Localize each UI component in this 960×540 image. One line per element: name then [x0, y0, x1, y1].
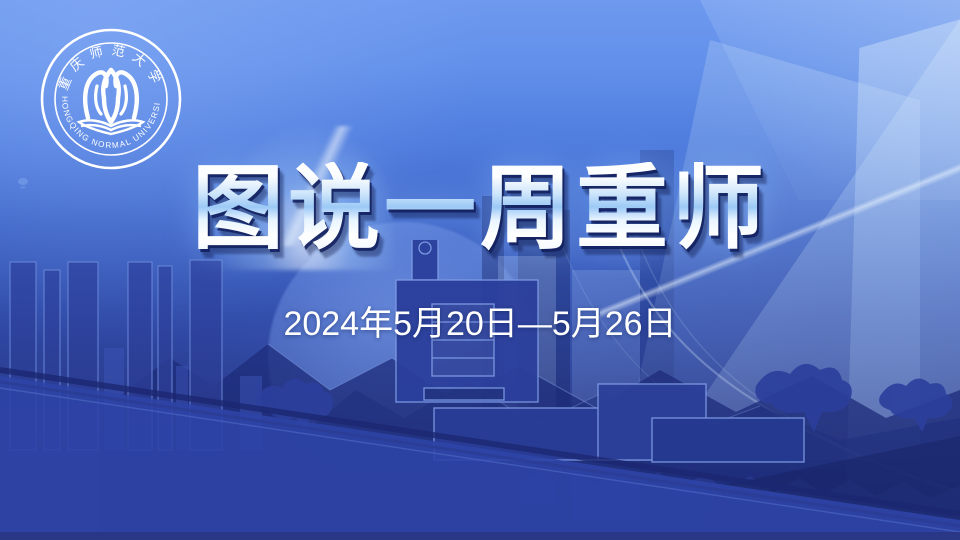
- poster-canvas: 重庆师范大学 CHONGQING NORMAL UNIVERSITY 图说一周重…: [0, 0, 960, 540]
- chongqing-normal-university-logo: 重庆师范大学 CHONGQING NORMAL UNIVERSITY: [38, 26, 184, 172]
- date-range: 2024年5月20日—5月26日: [0, 307, 960, 341]
- sun-dome-circle: [268, 222, 538, 492]
- glass-panel-right-slab: [845, 18, 960, 518]
- page-title: 图说一周重师: [0, 162, 960, 254]
